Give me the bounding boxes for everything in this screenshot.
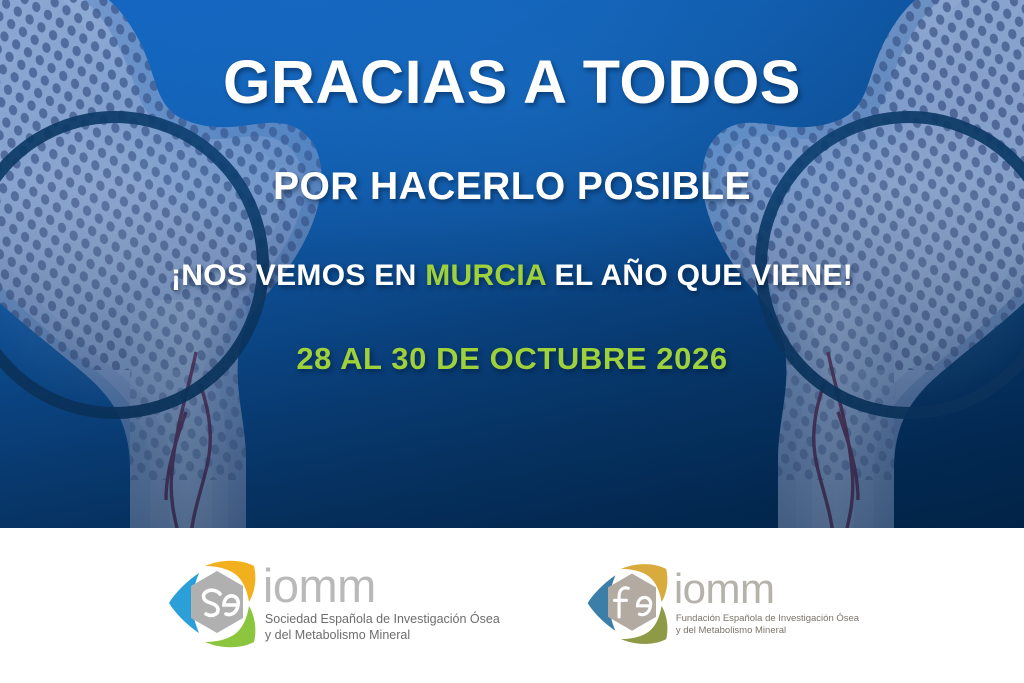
feiomm-emblem-icon xyxy=(584,558,680,650)
seiomm-logo[interactable]: iomm Sociedad Española de Investigación … xyxy=(165,556,500,652)
footer-logo-bar: iomm Sociedad Española de Investigación … xyxy=(0,528,1024,683)
feiomm-wordmark-iomm: iomm xyxy=(674,565,775,612)
magnifier-right xyxy=(761,117,1024,413)
hero-banner: GRACIAS A TODOS POR HACERLO POSIBLE ¡NOS… xyxy=(0,0,1024,528)
seiomm-wordmark-block: iomm Sociedad Española de Investigación … xyxy=(263,564,500,643)
bone-background-illustration xyxy=(0,0,1024,528)
logo-row: iomm Sociedad Española de Investigación … xyxy=(165,556,859,652)
feiomm-logo[interactable]: iomm Fundación Española de Investigación… xyxy=(584,558,859,650)
seiomm-wordmark: iomm xyxy=(263,564,500,607)
seiomm-tagline: Sociedad Española de Investigación Ósea … xyxy=(265,611,500,643)
seiomm-emblem-icon xyxy=(165,556,269,652)
feiomm-wordmark: iomm xyxy=(674,570,859,609)
seiomm-wordmark-iomm: iomm xyxy=(263,559,376,612)
feiomm-wordmark-block: iomm Fundación Española de Investigación… xyxy=(674,570,859,637)
magnifier-left xyxy=(0,117,263,413)
feiomm-tagline: Fundación Española de Investigación Ósea… xyxy=(676,613,859,637)
poster-root: GRACIAS A TODOS POR HACERLO POSIBLE ¡NOS… xyxy=(0,0,1024,683)
